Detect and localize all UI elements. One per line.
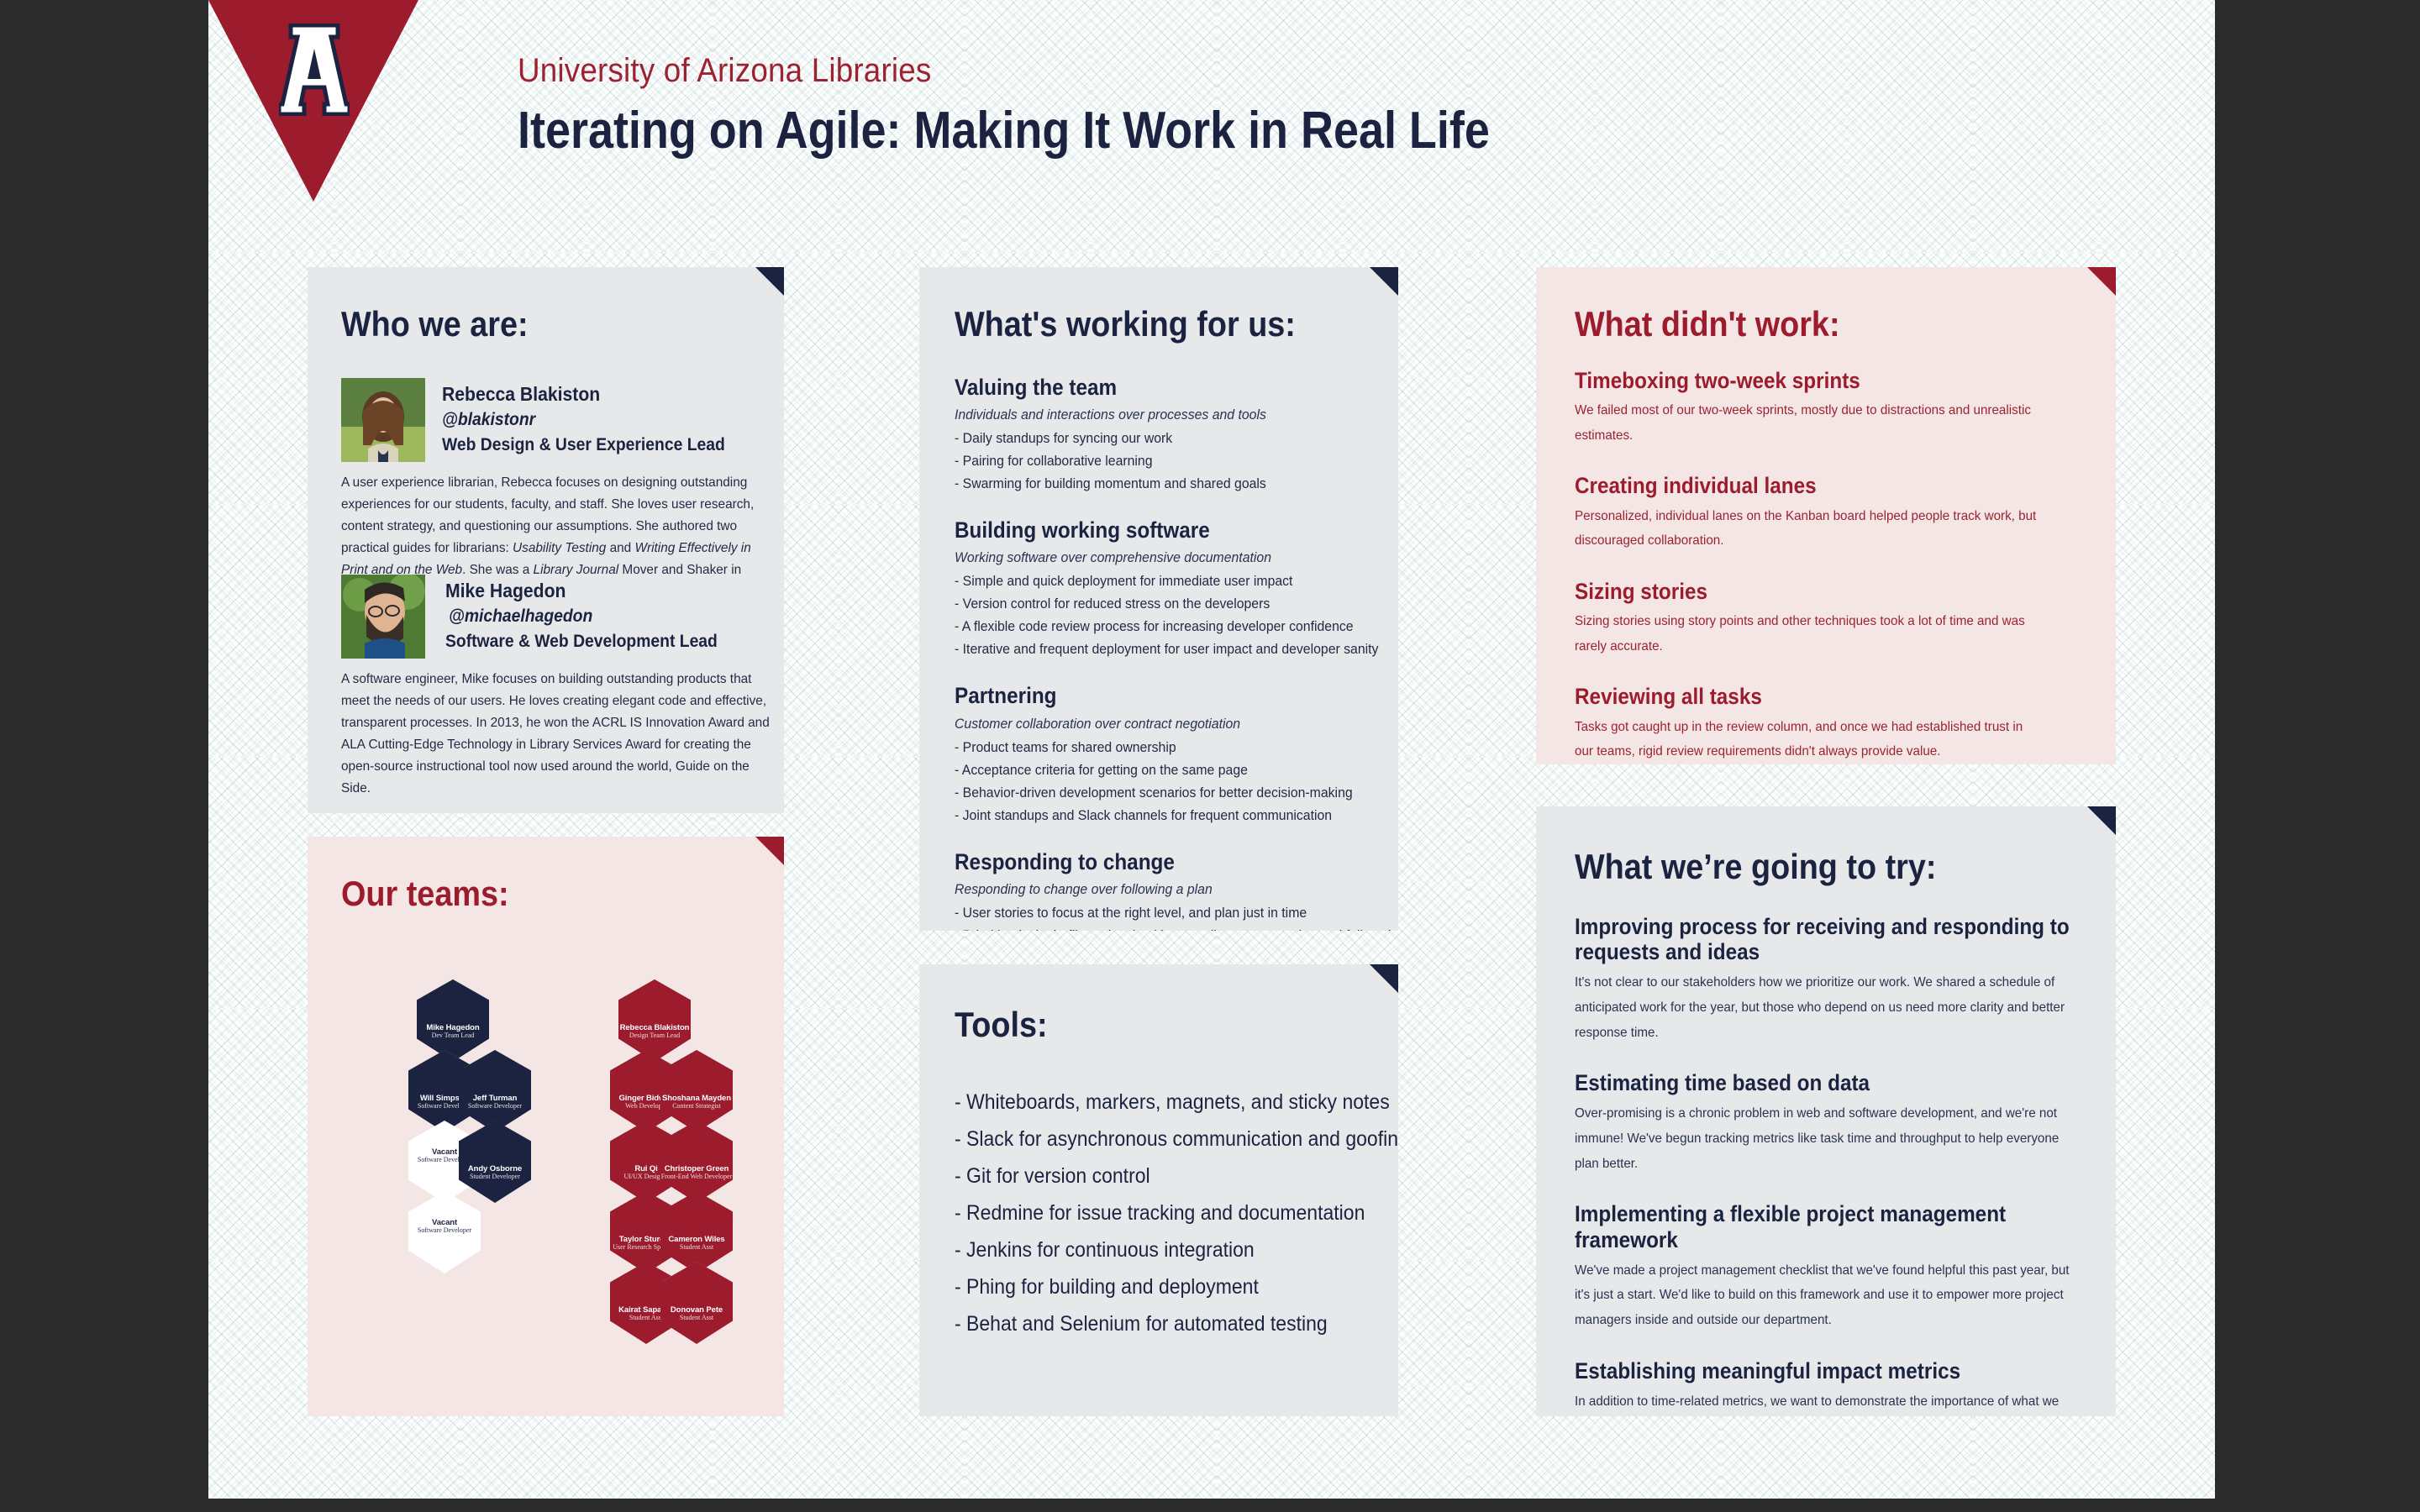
what-were-going-to-try-title: What we’re going to try: <box>1575 847 1936 887</box>
list-item: - Joint standups and Slack channels for … <box>955 807 1345 824</box>
list-item: - Version control for reduced stress on … <box>955 596 1345 612</box>
org-chart-node: Jeff TurmanSoftware Developer <box>459 1050 531 1132</box>
list-item: - Behat and Selenium for automated testi… <box>955 1305 1341 1342</box>
org-chart-node-role: Software Developer <box>408 1227 481 1235</box>
didnt-work-section: Creating individual lanesPersonalized, i… <box>1575 473 2079 553</box>
didnt-work-body: Personalized, individual lanes on the Ka… <box>1575 504 2038 554</box>
person-name: Rebecca Blakiston <box>442 383 600 406</box>
org-chart-node-role: Design Team Lead <box>618 1032 691 1040</box>
org-chart-node-role: Student Asst <box>660 1315 733 1322</box>
org-chart-node-label: Shoshana MaydenContent Strategist <box>660 1050 733 1132</box>
didnt-work-heading: Timeboxing two-week sprints <box>1575 368 2028 393</box>
org-chart-node-role: Dev Team Lead <box>417 1032 489 1040</box>
person-handle: @michaelhagedon <box>449 606 592 627</box>
corner-triangle-icon <box>1370 964 1398 993</box>
org-chart-node: Rebecca BlakistonDesign Team Lead <box>618 979 691 1062</box>
try-body: Over-promising is a chronic problem in w… <box>1575 1101 2070 1176</box>
working-section-heading: Partnering <box>955 683 1333 708</box>
try-section: Establishing meaningful impact metricsIn… <box>1575 1358 2096 1416</box>
org-chart-node: Donovan PeteStudent Asst <box>660 1262 733 1344</box>
list-item: - A flexible code review process for inc… <box>955 618 1345 635</box>
org-chart-node-role: Front-End Web Developer <box>660 1173 733 1181</box>
try-body: We've made a project management checklis… <box>1575 1258 2070 1333</box>
working-section: Building working softwareWorking softwar… <box>955 517 1375 658</box>
org-chart-node: Christoper GreenFront-End Web Developer <box>660 1121 733 1203</box>
list-item: - Daily standups for syncing our work <box>955 430 1345 447</box>
working-section: PartneringCustomer collaboration over co… <box>955 683 1375 823</box>
page-title: Iterating on Agile: Making It Work in Re… <box>518 101 1490 160</box>
list-item: - Whiteboards, markers, magnets, and sti… <box>955 1084 1341 1121</box>
working-section-heading: Responding to change <box>955 849 1333 874</box>
panel-what-didnt-work: What didn't work: Timeboxing two-week sp… <box>1536 267 2116 764</box>
arizona-wedge-logo <box>208 0 418 202</box>
panel-tools: Tools: - Whiteboards, markers, magnets, … <box>919 964 1398 1416</box>
whats-working-body: Valuing the teamIndividuals and interact… <box>955 375 1375 931</box>
agile-principle: Responding to change over following a pl… <box>955 881 1345 898</box>
list-item: - Iterative and frequent deployment for … <box>955 641 1345 658</box>
panel-what-were-going-to-try: What we’re going to try: Improving proce… <box>1536 806 2116 1416</box>
working-section-heading: Valuing the team <box>955 375 1333 400</box>
try-section: Improving process for receiving and resp… <box>1575 914 2096 1045</box>
list-item: - Redmine for issue tracking and documen… <box>955 1194 1341 1231</box>
panel-who-we-are: Who we are: Rebecca Blakiston @blakist <box>308 267 784 813</box>
what-didnt-work-title: What didn't work: <box>1575 304 1840 344</box>
org-chart-node-label: Christoper GreenFront-End Web Developer <box>660 1121 733 1203</box>
try-section: Implementing a flexible project manageme… <box>1575 1201 2096 1332</box>
list-item: - Jenkins for continuous integration <box>955 1231 1341 1268</box>
org-chart-node: Shoshana MaydenContent Strategist <box>660 1050 733 1132</box>
what-were-going-to-try-body: Improving process for receiving and resp… <box>1575 914 2096 1416</box>
list-item: - Slack for asynchronous communication a… <box>955 1121 1341 1158</box>
working-section-heading: Building working software <box>955 517 1333 543</box>
panel-our-teams: Our teams: Mike HagedonDev Team LeadWill… <box>308 837 784 1416</box>
person-role: Web Design & User Experience Lead <box>442 435 725 455</box>
who-we-are-title: Who we are: <box>341 304 529 344</box>
try-section: Estimating time based on dataOver-promis… <box>1575 1070 2096 1176</box>
list-item: - Simple and quick deployment for immedi… <box>955 573 1345 590</box>
org-chart-node-label: VacantSoftware Developer <box>408 1191 481 1273</box>
list-item: - Prioritized, single-file project backl… <box>955 927 1345 931</box>
list-item: - User stories to focus at the right lev… <box>955 905 1345 921</box>
didnt-work-body: We failed most of our two-week sprints, … <box>1575 398 2038 448</box>
try-body: It's not clear to our stakeholders how w… <box>1575 970 2070 1045</box>
org-chart-node-role: Student Asst <box>660 1244 733 1252</box>
working-section: Valuing the teamIndividuals and interact… <box>955 375 1375 492</box>
screen: University of Arizona Libraries Iteratin… <box>0 0 2420 1512</box>
list-item: - Behavior-driven development scenarios … <box>955 785 1345 801</box>
didnt-work-section: Reviewing all tasksTasks got caught up i… <box>1575 684 2079 764</box>
org-chart-node: VacantSoftware Developer <box>408 1191 481 1273</box>
org-chart-node-role: Student Developer <box>459 1173 531 1181</box>
org-chart-node: Mike HagedonDev Team Lead <box>417 979 489 1062</box>
person-bio: A software engineer, Mike focuses on bui… <box>341 669 781 799</box>
list-item: - Acceptance criteria for getting on the… <box>955 762 1345 779</box>
org-chart-node-label: Rebecca BlakistonDesign Team Lead <box>618 979 691 1062</box>
org-chart-node-label: Cameron WilesStudent Asst <box>660 1191 733 1273</box>
try-heading: Improving process for receiving and resp… <box>1575 914 2074 964</box>
panel-whats-working: What's working for us: Valuing the teamI… <box>919 267 1398 931</box>
org-chart-node-label: Donovan PeteStudent Asst <box>660 1262 733 1344</box>
try-heading: Estimating time based on data <box>1575 1070 2074 1095</box>
org-chart-node-label: Mike HagedonDev Team Lead <box>417 979 489 1062</box>
didnt-work-body: Tasks got caught up in the review column… <box>1575 715 2038 764</box>
what-didnt-work-body: Timeboxing two-week sprintsWe failed mos… <box>1575 368 2079 764</box>
didnt-work-heading: Creating individual lanes <box>1575 473 2028 498</box>
corner-triangle-icon <box>2087 267 2116 296</box>
org-chart-node: Cameron WilesStudent Asst <box>660 1191 733 1273</box>
try-body: In addition to time-related metrics, we … <box>1575 1389 2070 1416</box>
org-chart-node-label: Jeff TurmanSoftware Developer <box>459 1050 531 1132</box>
list-item: - Swarming for building momentum and sha… <box>955 475 1345 492</box>
org-chart-node-label: Andy OsborneStudent Developer <box>459 1121 531 1203</box>
avatar <box>341 575 425 659</box>
agile-principle: Customer collaboration over contract neg… <box>955 716 1345 732</box>
avatar <box>341 378 425 462</box>
corner-triangle-icon <box>1370 267 1398 296</box>
agile-principle: Working software over comprehensive docu… <box>955 549 1345 566</box>
didnt-work-body: Sizing stories using story points and ot… <box>1575 609 2038 659</box>
try-heading: Implementing a flexible project manageme… <box>1575 1201 2074 1252</box>
org-chart: Mike HagedonDev Team LeadWill SimpsonSof… <box>308 837 784 1416</box>
org-chart-node-role: Software Developer <box>459 1103 531 1110</box>
list-item: - Git for version control <box>955 1158 1341 1194</box>
list-item: - Phing for building and deployment <box>955 1268 1341 1305</box>
list-item: - Product teams for shared ownership <box>955 739 1345 756</box>
person-name: Mike Hagedon <box>445 580 566 602</box>
block-a-icon <box>279 24 350 116</box>
person-role: Software & Web Development Lead <box>445 632 718 652</box>
tools-title: Tools: <box>955 1005 1048 1045</box>
corner-triangle-icon <box>2087 806 2116 835</box>
agile-principle: Individuals and interactions over proces… <box>955 407 1345 423</box>
org-chart-node-role: Content Strategist <box>660 1103 733 1110</box>
portrait-illustration <box>341 575 425 659</box>
person-handle: @blakistonr <box>442 410 535 430</box>
poster-canvas: University of Arizona Libraries Iteratin… <box>208 0 2215 1499</box>
poster-header: University of Arizona Libraries Iteratin… <box>208 0 2215 225</box>
organization-name: University of Arizona Libraries <box>518 52 931 90</box>
list-item: - Pairing for collaborative learning <box>955 453 1345 470</box>
working-section: Responding to changeResponding to change… <box>955 849 1375 931</box>
didnt-work-heading: Sizing stories <box>1575 579 2028 604</box>
didnt-work-heading: Reviewing all tasks <box>1575 684 2028 709</box>
try-heading: Establishing meaningful impact metrics <box>1575 1358 2074 1383</box>
didnt-work-section: Sizing storiesSizing stories using story… <box>1575 579 2079 659</box>
corner-triangle-icon <box>755 267 784 296</box>
portrait-illustration <box>341 378 425 462</box>
whats-working-title: What's working for us: <box>955 304 1296 344</box>
tools-list: - Whiteboards, markers, magnets, and sti… <box>955 1084 1375 1342</box>
didnt-work-section: Timeboxing two-week sprintsWe failed mos… <box>1575 368 2079 448</box>
org-chart-node: Andy OsborneStudent Developer <box>459 1121 531 1203</box>
